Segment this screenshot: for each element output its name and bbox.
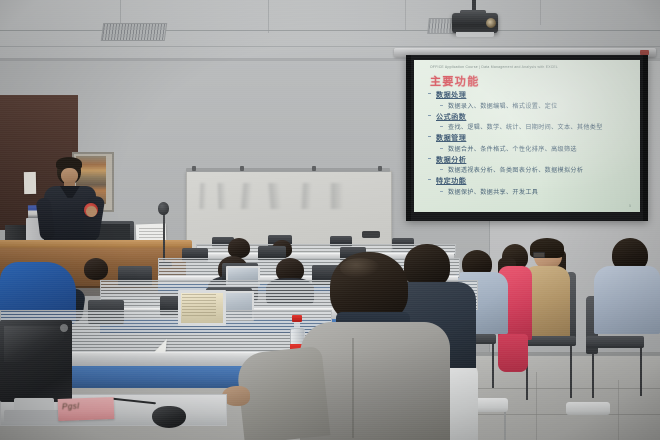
slide-bullet-item: 数据分析 数据透视表分析、各类图表分析、数据模拟分析 (426, 155, 634, 175)
ceiling-seam (0, 46, 660, 47)
projector-base (456, 32, 494, 37)
monitor-base (4, 410, 62, 422)
microphone-stem (163, 210, 165, 264)
glasses-icon (533, 252, 545, 258)
ceiling-seam (405, 0, 406, 30)
chair-leg (570, 346, 572, 398)
slide-bullet-detail: 数据透视表分析、各类图表分析、数据模拟分析 (426, 165, 634, 174)
chair-leg (492, 344, 494, 388)
slide-bullet-heading: 数据处理 (426, 90, 634, 100)
screen-edge-left (406, 55, 411, 221)
monitor-content-lines (182, 294, 216, 316)
slide-bullet-detail: 数据合并、条件格式、个性化排序、高级筛选 (426, 144, 634, 153)
slide-bullet-list: 数据处理 数据录入、数据编辑、格式设置、定位 公式函数 查找、逻辑、数学、统计、… (426, 90, 634, 198)
microphone-icon (158, 202, 169, 215)
slide-page-number: 5 (629, 204, 631, 208)
jacket-seam (352, 338, 354, 438)
slide-bullet-item: 数据处理 数据录入、数据编辑、格式设置、定位 (426, 90, 634, 110)
computer-mouse (152, 406, 186, 428)
whiteboard-bracket (240, 166, 244, 171)
slide-bullet-heading: 特定功能 (426, 176, 634, 186)
podium-paper-lines (139, 228, 163, 238)
chair-leg (592, 348, 594, 398)
slide-bullet-detail: 查找、逻辑、数学、统计、日期时间、文本、其他类型 (426, 122, 634, 131)
chair-seat (586, 336, 644, 348)
slide-bullet-item: 数据管理 数据合并、条件格式、个性化排序、高级筛选 (426, 133, 634, 153)
slide-title: 主要功能 (430, 73, 480, 89)
ceiling-seam (540, 0, 541, 25)
slide-bullet-heading: 数据管理 (426, 133, 634, 143)
air-vent-icon (101, 23, 168, 41)
hair-highlight (340, 258, 380, 278)
slide-bullet-item: 特定功能 数据保护、数据共享、开发工具 (426, 176, 634, 196)
ceiling-seam (0, 30, 660, 31)
bottle-cap (292, 315, 302, 322)
projector-lens-icon (486, 18, 496, 28)
slide-bullet-detail: 数据录入、数据编辑、格式设置、定位 (426, 101, 634, 110)
projected-slide: OFFICE Application Course | Data Managem… (414, 60, 640, 212)
slide-bullet-detail: 数据保护、数据共享、开发工具 (426, 187, 634, 196)
classroom-photo-scene: OFFICE Application Course | Data Managem… (0, 0, 660, 440)
slide-bullet-heading: 数据分析 (426, 155, 634, 165)
notice-paper (24, 172, 36, 194)
monitor-power-indicator (60, 324, 68, 332)
student-head (228, 238, 250, 258)
slide-header-text: OFFICE Application Course | Data Managem… (430, 65, 558, 69)
floor-tile-line (536, 372, 537, 440)
attendee-body (594, 266, 660, 334)
attendee-legs (498, 334, 528, 372)
slide-bullet-heading: 公式函数 (426, 112, 634, 122)
pink-desk-label-text: Pgsl (62, 402, 80, 412)
screen-edge-right (643, 55, 648, 221)
ceiling-seam (268, 0, 269, 33)
near-monitor-glare (4, 326, 64, 362)
chair-leg (504, 410, 506, 440)
whiteboard-bracket (192, 166, 196, 171)
instructor-hand (86, 206, 97, 217)
whiteboard-bracket (312, 166, 316, 171)
folding-chair-seat (566, 402, 610, 415)
whiteboard-writing (196, 183, 376, 209)
whiteboard-bracket (378, 166, 382, 171)
floor-tile-line (618, 380, 619, 440)
chair-leg (640, 348, 642, 396)
slide-bullet-item: 公式函数 查找、逻辑、数学、统计、日期时间、文本、其他类型 (426, 112, 634, 132)
whiteboard-eraser (362, 231, 380, 238)
whiteboard-rail (186, 168, 390, 172)
